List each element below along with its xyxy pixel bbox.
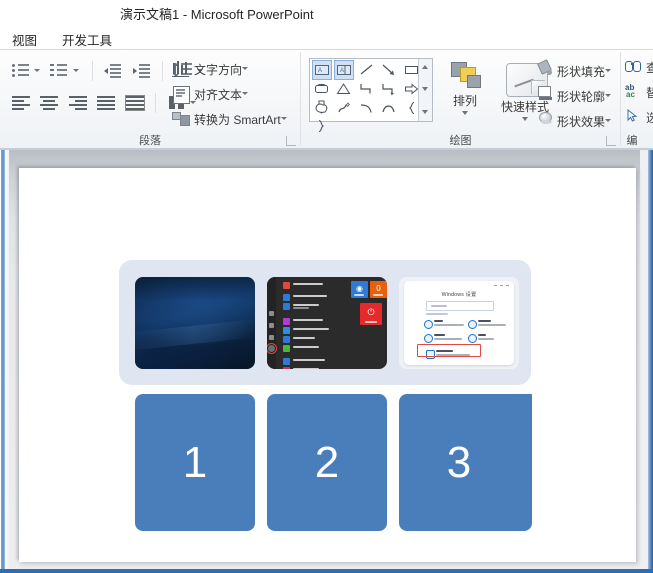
text-direction-icon	[170, 58, 192, 80]
ribbon-group-editing: 查 abac替 选 编	[621, 50, 653, 150]
settings-highlight-rectangle	[417, 344, 481, 357]
select-button[interactable]: 选	[625, 108, 653, 126]
powerpoint-window: 演示文稿1 - Microsoft PowerPoint 视图 开发工具	[0, 0, 653, 573]
slide-canvas[interactable]: ◉ 0 ⏻ Windows 设置	[19, 168, 636, 562]
svg-text:A: A	[340, 68, 344, 74]
text-direction-label: 文字方向	[194, 61, 242, 78]
convert-to-smartart-label: 转换为 SmartArt	[194, 111, 281, 128]
start-menu-image: ◉ 0 ⏻	[267, 277, 387, 369]
shape-effects-button[interactable]: 形状效果	[537, 110, 616, 130]
settings-item-devices	[468, 319, 512, 330]
shape-outline-icon	[537, 85, 554, 102]
windows-settings-image: Windows 设置	[399, 277, 519, 369]
shape-fill-icon	[537, 60, 554, 77]
divider	[92, 61, 93, 81]
settings-subtitle	[426, 313, 448, 315]
ribbon-group-paragraph: 文字方向 对齐文本 转换为 SmartArt 段落	[0, 50, 300, 150]
curve-shape[interactable]	[358, 99, 376, 117]
align-left-icon[interactable]	[10, 92, 32, 114]
scroll-down-icon[interactable]	[422, 87, 428, 91]
divider	[155, 93, 156, 113]
align-text-icon	[170, 83, 192, 105]
bullets-chevron-down-icon[interactable]	[34, 69, 40, 72]
settings-gear-highlight-icon	[268, 345, 275, 352]
arrange-label: 排列	[437, 92, 493, 109]
picture-windows-settings-dialog[interactable]: Windows 设置	[399, 277, 519, 369]
tile-power: ⏻	[360, 303, 382, 325]
shape-effects-label: 形状效果	[557, 113, 605, 130]
replace-icon: abac	[625, 83, 642, 99]
freeform-shape[interactable]	[313, 99, 331, 117]
replace-label: 替	[646, 84, 653, 101]
title-bar: 演示文稿1 - Microsoft PowerPoint	[0, 0, 653, 27]
tile-maps: ◉	[351, 281, 368, 298]
start-menu-app-list	[278, 279, 348, 367]
vertical-textbox-shape[interactable]: A	[335, 61, 353, 79]
numbered-list-icon[interactable]	[49, 60, 71, 82]
vertical-scrollbar[interactable]	[648, 150, 653, 573]
smartart-box-3[interactable]: 3	[399, 394, 532, 531]
align-center-icon[interactable]	[38, 92, 60, 114]
window-controls	[494, 284, 510, 288]
settings-item-system	[424, 319, 468, 330]
shapes-gallery[interactable]: A A	[309, 58, 433, 122]
shapes-gallery-scrollbar[interactable]	[418, 59, 432, 121]
divider	[162, 61, 163, 81]
start-menu-left-rail	[267, 277, 276, 369]
window-title: 演示文稿1 - Microsoft PowerPoint	[120, 4, 314, 23]
distribute-icon[interactable]	[124, 92, 146, 114]
shape-fill-label: 形状填充	[557, 63, 605, 80]
shapes-row: A A	[313, 61, 432, 80]
start-menu-tiles: ◉ 0 ⏻	[351, 279, 387, 369]
group-label-editing: 编	[615, 132, 649, 148]
triangle-shape[interactable]	[335, 80, 353, 98]
tab-developer[interactable]: 开发工具	[58, 29, 116, 50]
smartart-box-2[interactable]: 2	[267, 394, 387, 531]
text-direction-button[interactable]: 文字方向	[170, 58, 253, 80]
arrange-chevron-down-icon[interactable]	[462, 111, 468, 115]
align-text-label: 对齐文本	[194, 86, 242, 103]
left-splitter-handle[interactable]	[1, 150, 5, 573]
svg-text:A: A	[318, 68, 322, 74]
align-text-chevron-down-icon[interactable]	[242, 92, 248, 95]
right-pane-rail	[640, 150, 648, 573]
arc-shape[interactable]	[380, 99, 398, 117]
smartart-box-3-label: 3	[399, 394, 519, 531]
window-bottom-border	[0, 569, 653, 573]
smartart-box-1[interactable]: 1	[135, 394, 255, 531]
group-label-drawing: 绘图	[301, 132, 620, 148]
decrease-indent-icon[interactable]	[102, 60, 124, 82]
select-icon	[625, 108, 642, 124]
settings-item-network	[424, 333, 468, 344]
find-button[interactable]: 查	[625, 58, 653, 76]
shape-effects-chevron-down-icon[interactable]	[605, 119, 611, 122]
picture-windows-desktop-wallpaper[interactable]	[135, 277, 255, 369]
scroll-up-icon[interactable]	[422, 65, 428, 69]
textbox-shape[interactable]: A	[313, 61, 331, 79]
line-shape[interactable]	[358, 61, 376, 79]
shape-outline-chevron-down-icon[interactable]	[605, 94, 611, 97]
settings-item-personalization	[468, 333, 512, 344]
paragraph-menu-list: 文字方向 对齐文本 转换为 SmartArt	[170, 58, 292, 133]
settings-title: Windows 设置	[404, 291, 514, 298]
align-text-button[interactable]: 对齐文本	[170, 83, 253, 105]
shapes-row	[313, 99, 432, 118]
shape-outline-button[interactable]: 形状轮廓	[537, 85, 616, 105]
shape-fill-chevron-down-icon[interactable]	[605, 69, 611, 72]
smartart-icon	[170, 108, 192, 130]
smartart-chevron-down-icon[interactable]	[281, 117, 287, 120]
desktop-wallpaper-image	[135, 277, 255, 369]
scribble-shape[interactable]	[335, 99, 353, 117]
justify-icon[interactable]	[95, 92, 117, 114]
shapes-row	[313, 80, 432, 99]
find-label: 查	[646, 59, 653, 76]
ribbon-tab-strip: 视图 开发工具	[0, 27, 653, 49]
tab-view[interactable]: 视图	[8, 29, 41, 50]
paragraph-dialog-launcher[interactable]	[286, 136, 296, 146]
quick-styles-chevron-down-icon[interactable]	[522, 117, 528, 121]
picture-windows-start-menu[interactable]: ◉ 0 ⏻	[267, 277, 387, 369]
ribbon-group-drawing: A A	[301, 50, 620, 150]
numbering-chevron-down-icon[interactable]	[73, 69, 79, 72]
settings-search-box	[426, 301, 494, 311]
shape-effects-icon	[537, 110, 554, 127]
select-label: 选	[646, 109, 653, 126]
align-right-icon[interactable]	[67, 92, 89, 114]
more-shapes-chevron-down-icon[interactable]	[422, 110, 428, 114]
arrange-button[interactable]: 排列	[437, 62, 493, 115]
arrange-icon	[451, 62, 481, 90]
smartart-graphic[interactable]: ◉ 0 ⏻ Windows 设置	[119, 260, 534, 550]
shape-outline-label: 形状轮廓	[557, 88, 605, 105]
arrow-shape[interactable]	[380, 61, 398, 79]
elbow-connector-shape[interactable]	[358, 80, 376, 98]
elbow-arrow-connector-shape[interactable]	[380, 80, 398, 98]
tile-office: 0	[370, 281, 387, 298]
increase-indent-icon[interactable]	[131, 60, 153, 82]
rounded-rectangle-shape[interactable]	[313, 80, 331, 98]
replace-button[interactable]: abac替	[625, 83, 653, 101]
convert-to-smartart-button[interactable]: 转换为 SmartArt	[170, 108, 292, 130]
text-direction-chevron-down-icon[interactable]	[242, 67, 248, 70]
ribbon: 文字方向 对齐文本 转换为 SmartArt 段落 A	[0, 49, 653, 151]
bullet-list-icon[interactable]	[10, 60, 32, 82]
find-icon	[625, 58, 642, 74]
group-label-paragraph: 段落	[0, 132, 300, 148]
shape-fill-button[interactable]: 形状填充	[537, 60, 616, 80]
